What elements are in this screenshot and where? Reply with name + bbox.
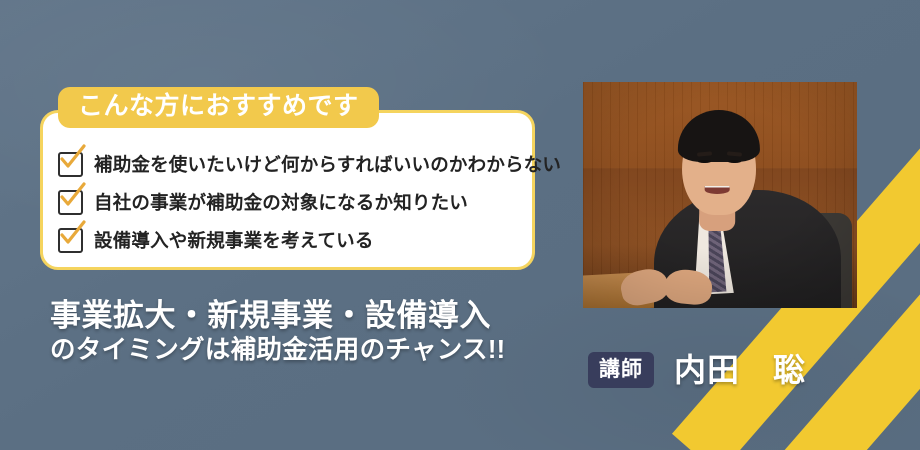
list-item-label: 設備導入や新規事業を考えている <box>94 227 374 253</box>
headline-line-2: のタイミングは補助金活用のチャンス!! <box>50 336 505 365</box>
checkbox-checked-icon <box>58 190 83 215</box>
seminar-banner: こんな方におすすめです 補助金を使いたいけど何からすればいいのかわからない 自社… <box>0 0 920 450</box>
instructor-name: 内田 聡 <box>674 354 806 386</box>
card-tab-label: こんな方におすすめです <box>58 87 379 128</box>
checkbox-checked-icon <box>58 152 83 177</box>
checkbox-checked-icon <box>58 228 83 253</box>
list-item: 自社の事業が補助金の対象になるか知りたい <box>58 183 528 221</box>
instructor-badge: 講師 <box>588 352 654 388</box>
instructor-credit: 講師 内田 聡 <box>588 352 806 388</box>
headline-line-1: 事業拡大・新規事業・設備導入 <box>50 298 505 334</box>
photo-shading-overlay <box>583 82 857 308</box>
list-item-label: 補助金を使いたいけど何からすればいいのかわからない <box>94 151 561 177</box>
list-item: 補助金を使いたいけど何からすればいいのかわからない <box>58 145 528 183</box>
list-item: 設備導入や新規事業を考えている <box>58 221 528 259</box>
instructor-photo <box>583 82 857 308</box>
recommendation-list: 補助金を使いたいけど何からすればいいのかわからない 自社の事業が補助金の対象にな… <box>58 145 528 259</box>
list-item-label: 自社の事業が補助金の対象になるか知りたい <box>94 189 468 215</box>
headline: 事業拡大・新規事業・設備導入 のタイミングは補助金活用のチャンス!! <box>50 298 505 365</box>
